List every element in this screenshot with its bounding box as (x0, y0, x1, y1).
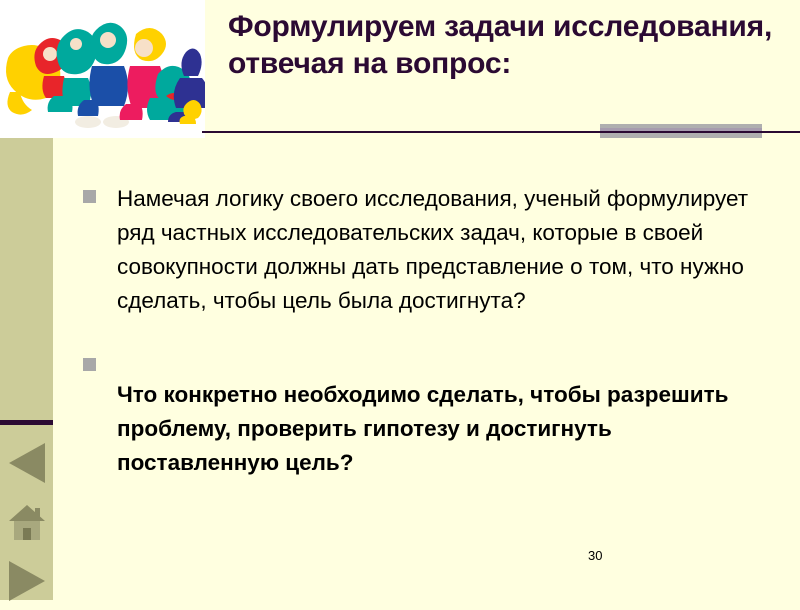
slide-content: Намечая логику своего исследования, учен… (53, 138, 800, 600)
list-item-text: Что конкретно необходимо сделать, чтобы … (117, 378, 747, 480)
nav-forward-button[interactable] (0, 552, 53, 610)
list-item-text: Намечая логику своего исследования, учен… (117, 182, 757, 318)
slide-header: Формулируем задачи исследования, отвечая… (0, 0, 800, 138)
clipart-panel (0, 0, 205, 138)
nav-back-button[interactable] (0, 434, 53, 492)
slide-title: Формулируем задачи исследования, отвечая… (228, 8, 788, 82)
nav-home-button[interactable] (0, 494, 53, 550)
page-number: 30 (588, 548, 602, 563)
square-bullet-icon (83, 190, 96, 203)
home-icon (8, 502, 46, 542)
left-sidebar (0, 138, 53, 600)
title-divider-rule (202, 131, 800, 133)
presentation-slide: Формулируем задачи исследования, отвечая… (0, 0, 800, 600)
triangle-left-icon (7, 441, 47, 485)
jigsaw-children-and-animals-clipart (0, 0, 205, 138)
sidebar-divider (0, 420, 53, 425)
triangle-right-icon (7, 559, 47, 603)
square-bullet-icon (83, 358, 96, 371)
